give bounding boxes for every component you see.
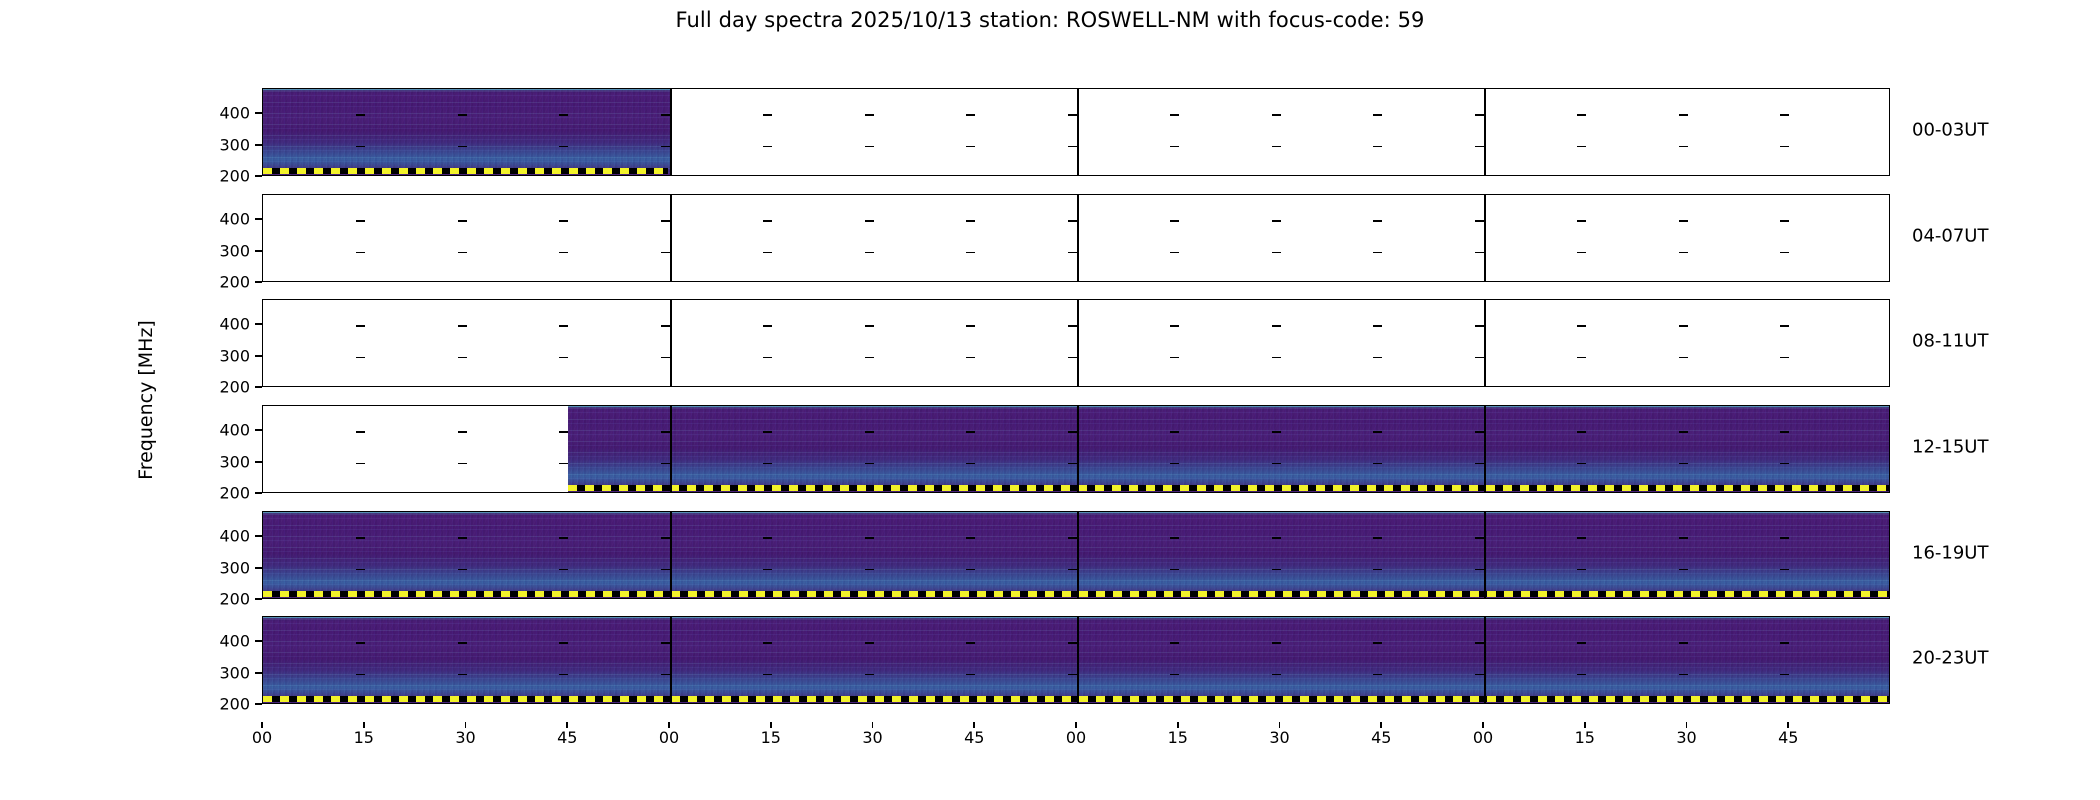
minor-y-tick (1373, 146, 1382, 148)
panel-axes (262, 88, 1890, 176)
hour-gridline (1484, 406, 1486, 492)
minor-y-tick (661, 463, 670, 465)
minor-y-tick (458, 325, 467, 327)
baseline-marker (263, 591, 1889, 597)
minor-y-tick (1272, 642, 1281, 644)
y-tick-mark (255, 598, 262, 600)
minor-y-tick (966, 674, 975, 676)
minor-y-tick (966, 537, 975, 539)
y-tick-mark (255, 281, 262, 283)
minor-y-tick (1475, 431, 1484, 433)
y-tick-mark (255, 492, 262, 494)
x-tick-mark (1177, 722, 1179, 728)
baseline-marker (568, 485, 1889, 491)
minor-y-tick (763, 674, 772, 676)
minor-y-tick (1170, 220, 1179, 222)
y-tick-label: 300 (200, 346, 250, 365)
minor-y-tick (1272, 220, 1281, 222)
minor-y-tick (1272, 569, 1281, 571)
panel-row-04-07ut (262, 194, 1890, 282)
minor-y-tick (1068, 146, 1077, 148)
x-tick-label: 45 (537, 728, 597, 747)
minor-y-tick (559, 569, 568, 571)
y-tick-label: 300 (200, 135, 250, 154)
minor-y-tick (1170, 537, 1179, 539)
minor-y-tick (661, 220, 670, 222)
hour-gridline (670, 195, 672, 281)
minor-y-tick (1679, 325, 1688, 327)
minor-y-tick (1170, 642, 1179, 644)
minor-y-tick (763, 463, 772, 465)
minor-y-tick (1170, 431, 1179, 433)
minor-y-tick (1068, 252, 1077, 254)
minor-y-tick (763, 325, 772, 327)
minor-y-tick (661, 674, 670, 676)
minor-y-tick (1373, 114, 1382, 116)
minor-y-tick (1373, 537, 1382, 539)
minor-y-tick (1475, 252, 1484, 254)
minor-y-tick (661, 252, 670, 254)
x-tick-mark (973, 722, 975, 728)
minor-y-tick (1170, 569, 1179, 571)
minor-y-tick (1170, 325, 1179, 327)
minor-y-tick (356, 674, 365, 676)
minor-y-tick (1475, 463, 1484, 465)
minor-y-tick (1272, 146, 1281, 148)
minor-y-tick (1679, 537, 1688, 539)
minor-y-tick (1679, 642, 1688, 644)
minor-y-tick (1679, 463, 1688, 465)
minor-y-tick (1272, 252, 1281, 254)
minor-y-tick (865, 642, 874, 644)
minor-y-tick (966, 431, 975, 433)
minor-y-tick (966, 569, 975, 571)
minor-y-tick (458, 357, 467, 359)
y-tick-label: 200 (200, 167, 250, 186)
minor-y-tick (458, 674, 467, 676)
minor-y-tick (559, 642, 568, 644)
panel-row-20-23ut (262, 616, 1890, 704)
spectrogram-figure: Full day spectra 2025/10/13 station: ROS… (0, 0, 2100, 800)
minor-y-tick (1577, 220, 1586, 222)
y-axis-title: Frequency [MHz] (135, 320, 157, 480)
minor-y-tick (1780, 463, 1789, 465)
minor-y-tick (559, 357, 568, 359)
minor-y-tick (1577, 463, 1586, 465)
minor-y-tick (966, 357, 975, 359)
minor-y-tick (1272, 674, 1281, 676)
y-tick-mark (255, 323, 262, 325)
minor-y-tick (865, 537, 874, 539)
x-tick-label: 30 (1250, 728, 1310, 747)
y-tick-label: 400 (200, 210, 250, 229)
y-tick-mark (255, 175, 262, 177)
minor-y-tick (1780, 537, 1789, 539)
y-tick-mark (255, 703, 262, 705)
minor-y-tick (356, 325, 365, 327)
minor-y-tick (1373, 674, 1382, 676)
minor-y-tick (356, 220, 365, 222)
minor-y-tick (1679, 431, 1688, 433)
row-label-20-23ut: 20-23UT (1912, 648, 1988, 669)
minor-y-tick (559, 252, 568, 254)
y-tick-label: 300 (200, 558, 250, 577)
minor-y-tick (1577, 642, 1586, 644)
row-label-08-11ut: 08-11UT (1912, 331, 1988, 352)
x-tick-label: 00 (1046, 728, 1106, 747)
minor-y-tick (661, 431, 670, 433)
minor-y-tick (356, 252, 365, 254)
panel-axes (262, 511, 1890, 599)
minor-y-tick (1577, 325, 1586, 327)
minor-y-tick (1475, 146, 1484, 148)
row-label-00-03ut: 00-03UT (1912, 120, 1988, 141)
minor-y-tick (1272, 537, 1281, 539)
minor-y-tick (356, 642, 365, 644)
minor-y-tick (763, 569, 772, 571)
minor-y-tick (763, 537, 772, 539)
minor-y-tick (458, 642, 467, 644)
hour-gridline (1484, 89, 1486, 175)
y-tick-mark (255, 640, 262, 642)
minor-y-tick (661, 569, 670, 571)
panel-row-08-11ut (262, 299, 1890, 387)
minor-y-tick (763, 220, 772, 222)
row-label-16-19ut: 16-19UT (1912, 543, 1988, 564)
hour-gridline (670, 406, 672, 492)
minor-y-tick (1373, 220, 1382, 222)
x-tick-label: 15 (334, 728, 394, 747)
minor-y-tick (1068, 674, 1077, 676)
x-tick-mark (872, 722, 874, 728)
panel-axes (262, 616, 1890, 704)
minor-y-tick (1373, 357, 1382, 359)
minor-y-tick (661, 325, 670, 327)
minor-y-tick (966, 220, 975, 222)
row-label-12-15ut: 12-15UT (1912, 437, 1988, 458)
minor-y-tick (559, 463, 568, 465)
hour-gridline (1077, 300, 1079, 386)
minor-y-tick (763, 357, 772, 359)
minor-y-tick (559, 114, 568, 116)
x-tick-mark (465, 722, 467, 728)
minor-y-tick (1780, 674, 1789, 676)
minor-y-tick (966, 252, 975, 254)
y-tick-mark (255, 355, 262, 357)
minor-y-tick (356, 569, 365, 571)
minor-y-tick (1373, 642, 1382, 644)
minor-y-tick (559, 325, 568, 327)
minor-y-tick (865, 357, 874, 359)
minor-y-tick (559, 146, 568, 148)
minor-y-tick (356, 146, 365, 148)
x-tick-mark (1584, 722, 1586, 728)
y-tick-label: 300 (200, 452, 250, 471)
minor-y-tick (1373, 569, 1382, 571)
minor-y-tick (356, 357, 365, 359)
hour-gridline (1077, 195, 1079, 281)
minor-y-tick (763, 642, 772, 644)
minor-y-tick (1679, 146, 1688, 148)
minor-y-tick (559, 674, 568, 676)
minor-y-tick (1068, 642, 1077, 644)
y-tick-label: 200 (200, 378, 250, 397)
plot-area (262, 88, 1890, 722)
minor-y-tick (1577, 569, 1586, 571)
minor-y-tick (763, 431, 772, 433)
x-tick-label: 15 (741, 728, 801, 747)
minor-y-tick (1272, 114, 1281, 116)
panel-axes (262, 194, 1890, 282)
y-tick-label: 300 (200, 241, 250, 260)
minor-y-tick (661, 642, 670, 644)
minor-y-tick (1475, 674, 1484, 676)
minor-y-tick (458, 146, 467, 148)
spectrogram-data (263, 89, 670, 175)
y-tick-mark (255, 112, 262, 114)
minor-y-tick (966, 114, 975, 116)
minor-y-tick (1577, 114, 1586, 116)
y-tick-label: 400 (200, 315, 250, 334)
minor-y-tick (865, 431, 874, 433)
minor-y-tick (865, 146, 874, 148)
minor-y-tick (1780, 357, 1789, 359)
minor-y-tick (1170, 146, 1179, 148)
hour-gridline (1077, 512, 1079, 598)
x-tick-mark (1380, 722, 1382, 728)
minor-y-tick (356, 431, 365, 433)
hour-gridline (1484, 195, 1486, 281)
y-tick-mark (255, 218, 262, 220)
hour-gridline (1484, 300, 1486, 386)
minor-y-tick (356, 114, 365, 116)
x-tick-label: 15 (1148, 728, 1208, 747)
minor-y-tick (1373, 252, 1382, 254)
minor-y-tick (865, 569, 874, 571)
minor-y-tick (1373, 431, 1382, 433)
minor-y-tick (966, 146, 975, 148)
minor-y-tick (1475, 220, 1484, 222)
x-tick-mark (1787, 722, 1789, 728)
minor-y-tick (1272, 357, 1281, 359)
minor-y-tick (458, 114, 467, 116)
hour-gridline (670, 89, 672, 175)
y-tick-label: 400 (200, 527, 250, 546)
page-title: Full day spectra 2025/10/13 station: ROS… (0, 8, 2100, 32)
minor-y-tick (661, 146, 670, 148)
panel-axes (262, 299, 1890, 387)
baseline-marker (263, 168, 668, 174)
minor-y-tick (458, 431, 467, 433)
hour-gridline (1077, 89, 1079, 175)
minor-y-tick (1068, 357, 1077, 359)
minor-y-tick (1475, 357, 1484, 359)
minor-y-tick (458, 537, 467, 539)
minor-y-tick (1170, 357, 1179, 359)
x-tick-label: 45 (1758, 728, 1818, 747)
hour-gridline (1484, 512, 1486, 598)
row-label-04-07ut: 04-07UT (1912, 226, 1988, 247)
minor-y-tick (763, 252, 772, 254)
y-tick-mark (255, 144, 262, 146)
y-tick-label: 200 (200, 273, 250, 292)
minor-y-tick (1577, 146, 1586, 148)
minor-y-tick (1272, 463, 1281, 465)
x-tick-mark (668, 722, 670, 728)
x-tick-mark (1686, 722, 1688, 728)
minor-y-tick (966, 642, 975, 644)
x-tick-label: 45 (944, 728, 1004, 747)
y-tick-mark (255, 567, 262, 569)
x-tick-mark (566, 722, 568, 728)
minor-y-tick (865, 325, 874, 327)
minor-y-tick (1780, 431, 1789, 433)
minor-y-tick (1780, 569, 1789, 571)
minor-y-tick (1068, 220, 1077, 222)
x-tick-mark (363, 722, 365, 728)
y-tick-label: 200 (200, 484, 250, 503)
hour-gridline (1484, 617, 1486, 703)
minor-y-tick (1780, 325, 1789, 327)
minor-y-tick (1373, 325, 1382, 327)
minor-y-tick (865, 220, 874, 222)
minor-y-tick (1577, 674, 1586, 676)
y-tick-label: 200 (200, 695, 250, 714)
minor-y-tick (559, 431, 568, 433)
minor-y-tick (1780, 220, 1789, 222)
y-tick-label: 400 (200, 104, 250, 123)
minor-y-tick (1068, 569, 1077, 571)
minor-y-tick (1475, 642, 1484, 644)
minor-y-tick (865, 252, 874, 254)
minor-y-tick (1170, 114, 1179, 116)
minor-y-tick (1577, 252, 1586, 254)
minor-y-tick (1475, 569, 1484, 571)
minor-y-tick (1068, 463, 1077, 465)
minor-y-tick (1780, 642, 1789, 644)
minor-y-tick (1679, 674, 1688, 676)
minor-y-tick (1272, 431, 1281, 433)
panel-row-12-15ut (262, 405, 1890, 493)
y-tick-label: 400 (200, 632, 250, 651)
y-tick-mark (255, 386, 262, 388)
minor-y-tick (1577, 431, 1586, 433)
minor-y-tick (1679, 252, 1688, 254)
minor-y-tick (1170, 674, 1179, 676)
minor-y-tick (966, 463, 975, 465)
minor-y-tick (661, 357, 670, 359)
x-tick-mark (770, 722, 772, 728)
hour-gridline (1077, 617, 1079, 703)
minor-y-tick (356, 463, 365, 465)
minor-y-tick (1272, 325, 1281, 327)
minor-y-tick (1475, 325, 1484, 327)
y-tick-mark (255, 461, 262, 463)
minor-y-tick (763, 146, 772, 148)
minor-y-tick (1373, 463, 1382, 465)
minor-y-tick (1170, 252, 1179, 254)
minor-y-tick (1068, 431, 1077, 433)
minor-y-tick (458, 569, 467, 571)
minor-y-tick (1068, 114, 1077, 116)
hour-gridline (670, 512, 672, 598)
minor-y-tick (1577, 357, 1586, 359)
minor-y-tick (1679, 114, 1688, 116)
minor-y-tick (865, 463, 874, 465)
minor-y-tick (1780, 252, 1789, 254)
spectrogram-data (568, 406, 1890, 492)
minor-y-tick (559, 220, 568, 222)
y-tick-label: 400 (200, 421, 250, 440)
minor-y-tick (1780, 146, 1789, 148)
x-tick-label: 30 (1657, 728, 1717, 747)
minor-y-tick (865, 674, 874, 676)
x-tick-mark (261, 722, 263, 728)
x-tick-label: 00 (232, 728, 292, 747)
minor-y-tick (661, 537, 670, 539)
hour-gridline (670, 617, 672, 703)
x-tick-label: 15 (1555, 728, 1615, 747)
minor-y-tick (966, 325, 975, 327)
minor-y-tick (1475, 537, 1484, 539)
x-tick-mark (1482, 722, 1484, 728)
hour-gridline (670, 300, 672, 386)
y-tick-mark (255, 672, 262, 674)
minor-y-tick (458, 252, 467, 254)
baseline-marker (263, 696, 1889, 702)
x-tick-label: 30 (843, 728, 903, 747)
minor-y-tick (1475, 114, 1484, 116)
minor-y-tick (1068, 325, 1077, 327)
x-tick-label: 45 (1351, 728, 1411, 747)
y-tick-mark (255, 250, 262, 252)
minor-y-tick (865, 114, 874, 116)
minor-y-tick (559, 537, 568, 539)
minor-y-tick (1679, 220, 1688, 222)
x-tick-mark (1279, 722, 1281, 728)
minor-y-tick (1679, 357, 1688, 359)
x-tick-label: 00 (1453, 728, 1513, 747)
x-tick-mark (1075, 722, 1077, 728)
x-tick-label: 30 (436, 728, 496, 747)
minor-y-tick (1780, 114, 1789, 116)
minor-y-tick (763, 114, 772, 116)
panel-row-00-03ut (262, 88, 1890, 176)
hour-gridline (1077, 406, 1079, 492)
y-tick-mark (255, 535, 262, 537)
panel-axes (262, 405, 1890, 493)
minor-y-tick (1577, 537, 1586, 539)
x-tick-label: 00 (639, 728, 699, 747)
minor-y-tick (1679, 569, 1688, 571)
minor-y-tick (1068, 537, 1077, 539)
y-tick-label: 200 (200, 590, 250, 609)
minor-y-tick (661, 114, 670, 116)
minor-y-tick (458, 220, 467, 222)
y-tick-label: 300 (200, 663, 250, 682)
minor-y-tick (356, 537, 365, 539)
minor-y-tick (458, 463, 467, 465)
panel-row-16-19ut (262, 511, 1890, 599)
minor-y-tick (1170, 463, 1179, 465)
y-tick-mark (255, 429, 262, 431)
